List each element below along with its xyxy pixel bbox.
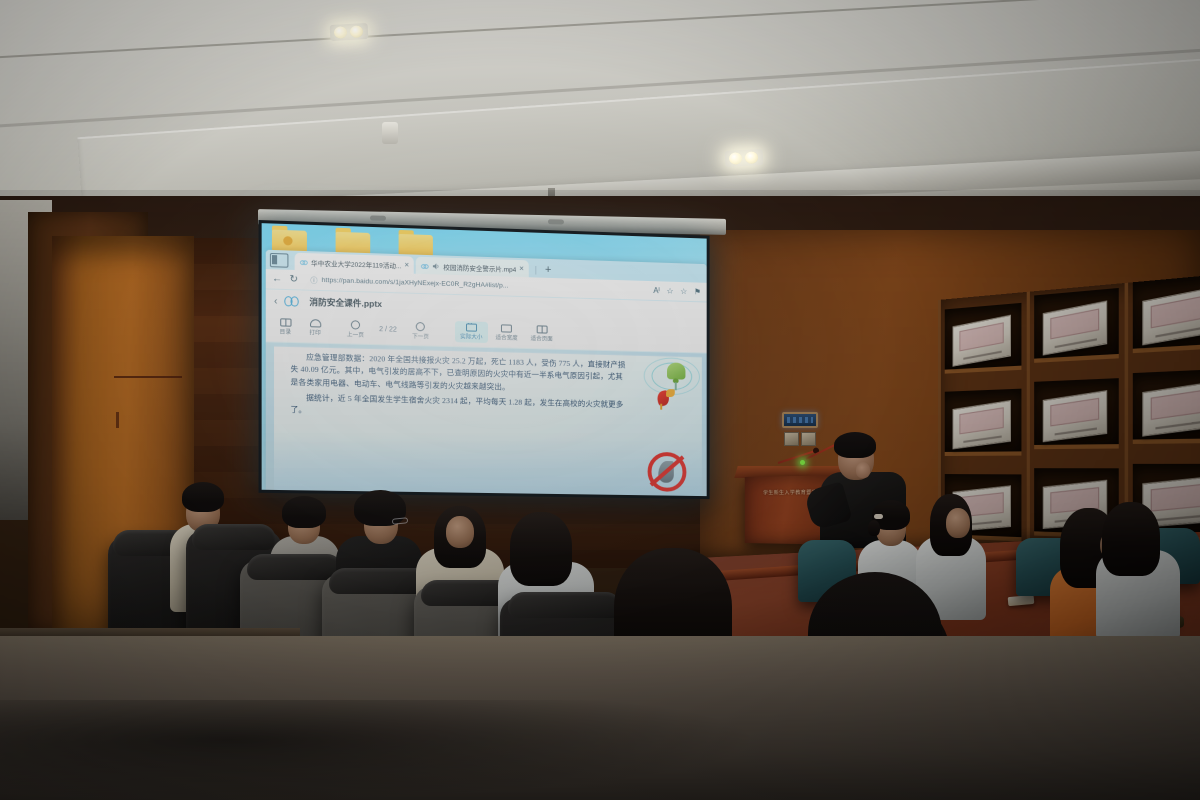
cloud-icon [421, 261, 429, 269]
screen-rail-knob [370, 215, 386, 220]
site-info-icon[interactable]: ⓘ [310, 275, 317, 285]
toolbar-label: 上一页 [347, 330, 364, 339]
browser-window: 华中农业大学2022年119活动... × 校园消防安全警示片.mp4 [266, 250, 707, 496]
alarm-bell-icon [663, 358, 688, 388]
display-certificate [1043, 390, 1107, 442]
light-switch-plate[interactable] [784, 432, 799, 446]
fit-page-icon [536, 325, 547, 333]
cloud-icon [300, 257, 308, 265]
browser-tab-title: 华中农业大学2022年119活动... [311, 257, 401, 270]
toolbar-label: 目录 [280, 327, 292, 335]
ceiling-spotlight [330, 23, 369, 41]
desktop-folder-icon[interactable] [272, 226, 307, 253]
toolbar-button-fit-page[interactable]: 适合页面 [526, 323, 558, 345]
display-certificate [1043, 300, 1107, 355]
toolbar-label: 实际大小 [460, 332, 482, 341]
new-tab-button[interactable]: + [545, 264, 551, 276]
bookshelf-cell [945, 303, 1022, 374]
attendee-face [946, 508, 970, 538]
toolbar-button-print[interactable]: 打印 [302, 317, 329, 339]
bookshelf-cell [945, 389, 1022, 456]
projection-screen[interactable]: 华中农业大学2022年119活动... × 校园消防安全警示片.mp4 [259, 220, 710, 499]
toolbar-button-catalog[interactable]: 目录 [272, 316, 299, 338]
attendee-hair [282, 496, 326, 528]
favorite-icon[interactable]: ☆ [667, 286, 674, 295]
file-name-label: 消防安全课件.pptx [309, 296, 382, 310]
fire-bird-icon [653, 388, 676, 410]
navbar-action-icons: Aᴵ ☆ ☆ ⚑ [653, 286, 701, 296]
microphone-led-indicator [800, 460, 805, 465]
next-page-icon [416, 322, 425, 331]
hair-tie [874, 514, 883, 519]
fit-width-icon [501, 324, 512, 332]
attendee-hair [1102, 502, 1160, 576]
door-latch [116, 412, 119, 428]
attendee-hair [510, 512, 572, 586]
display-certificate [953, 315, 1011, 367]
bookshelf-cell [1034, 288, 1119, 363]
desktop-folder-icon[interactable] [336, 228, 371, 254]
read-aloud-icon[interactable]: Aᴵ [653, 286, 659, 295]
toolbar-label: 适合宽度 [495, 333, 517, 342]
chair-headrest [508, 592, 622, 618]
browser-tab-1[interactable]: 华中农业大学2022年119活动... × [295, 253, 415, 274]
light-switch-plate[interactable] [801, 432, 816, 446]
screen-rail-knob [548, 219, 564, 224]
file-back-icon[interactable]: ‹ [274, 295, 277, 306]
ceiling-spotlight [725, 149, 764, 167]
ceiling-seam-upper [0, 0, 1200, 60]
slide-background-wave [274, 430, 702, 496]
toolbar-label: 打印 [309, 328, 320, 336]
prev-page-icon [351, 320, 360, 329]
window-restore-icon[interactable] [270, 253, 289, 268]
profile-icon[interactable]: ⚑ [694, 287, 701, 296]
browser-tab-2[interactable]: 校园消防安全警示片.mp4 × [416, 257, 529, 278]
actual-size-icon [466, 323, 477, 331]
projected-display: 华中农业大学2022年119活动... × 校园消防安全警示片.mp4 [262, 223, 707, 496]
attendee-ponytail [868, 520, 880, 536]
attendee-hair [182, 482, 224, 512]
attendee-head [446, 516, 474, 548]
av-control-panel[interactable] [782, 412, 818, 428]
presenter-hair [834, 432, 876, 458]
presenter-hand [856, 462, 870, 478]
toolbar-button-prev-page[interactable]: 上一页 [342, 317, 369, 340]
toolbar-label: 下一页 [412, 331, 429, 339]
catalog-icon [280, 318, 291, 326]
tab-divider: | [535, 265, 537, 275]
display-certificate [1142, 381, 1200, 436]
browser-tab-title: 校园消防安全警示片.mp4 [443, 261, 516, 273]
baidu-netdisk-logo-icon [285, 295, 302, 308]
ceiling-projector [382, 122, 398, 144]
tab-close-icon[interactable]: × [404, 260, 409, 269]
door-seam [114, 376, 182, 378]
display-certificate [1142, 287, 1200, 346]
display-certificate [953, 400, 1011, 450]
toolbar-button-fit-width[interactable]: 适合宽度 [490, 322, 522, 344]
back-icon[interactable]: ← [272, 274, 282, 284]
toolbar-label: 适合页面 [531, 334, 553, 343]
address-bar-url: https://pan.baidu.com/s/1jaXHyNExejx-EC0… [322, 277, 509, 290]
control-panel-display [787, 417, 813, 423]
bookshelf-cell [1133, 369, 1200, 444]
slide-viewport[interactable]: 应急管理部数据：2020 年全国共接报火灾 25.2 万起，死亡 1183 人，… [266, 342, 707, 496]
desktop-folder-icon[interactable] [399, 230, 433, 256]
printer-icon [309, 319, 320, 327]
refresh-icon[interactable]: ↻ [289, 274, 298, 284]
collections-icon[interactable]: ☆ [680, 287, 687, 296]
toolbar-button-next-page[interactable]: 下一页 [407, 319, 434, 342]
bookshelf-cell [1034, 378, 1119, 449]
conference-room-scene: 华中农业大学2022年119活动... × 校园消防安全警示片.mp4 [0, 0, 1200, 800]
toolbar-button-actual-size[interactable]: 实际大小 [455, 321, 487, 343]
tab-close-icon[interactable]: × [519, 264, 524, 273]
chair-headrest [247, 554, 344, 580]
floor-shadow [0, 700, 760, 800]
speaker-icon [432, 262, 440, 270]
presentation-slide: 应急管理部数据：2020 年全国共接报火灾 25.2 万起，死亡 1183 人，… [274, 346, 702, 496]
bookshelf-cell [1133, 274, 1200, 353]
chair-headrest [192, 524, 276, 550]
page-indicator: 2 / 22 [372, 326, 404, 334]
no-fire-prohibition-icon [648, 452, 687, 492]
